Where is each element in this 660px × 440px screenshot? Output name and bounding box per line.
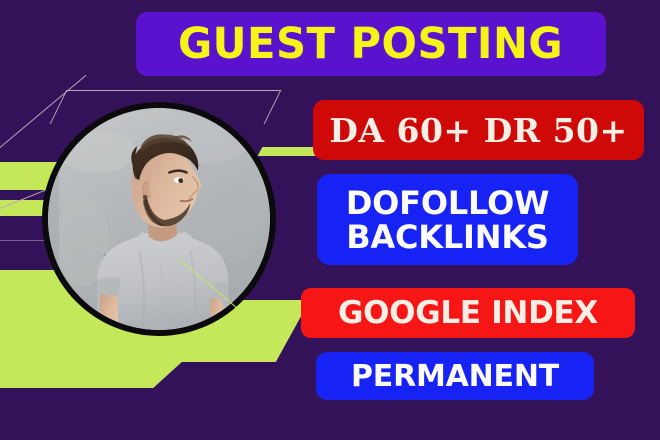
portrait-illustration <box>48 108 270 330</box>
badge-da-dr: DA 60+ DR 50+ <box>313 100 644 160</box>
portrait-photo-circle <box>42 102 276 336</box>
badge-permanent: PERMANENT <box>316 352 594 400</box>
page-title: GUEST POSTING <box>178 19 563 69</box>
badge-google-index: GOOGLE INDEX <box>301 288 635 338</box>
title-banner: GUEST POSTING <box>136 12 606 76</box>
portrait-photo-image <box>48 108 270 330</box>
poster-canvas: GUEST POSTING DA 60+ DR 50+ DOFOLLOW BAC… <box>0 0 660 440</box>
badge-google-index-label: GOOGLE INDEX <box>338 295 598 331</box>
badge-permanent-label: PERMANENT <box>351 359 559 394</box>
badge-dofollow-line2: BACKLINKS <box>346 221 549 254</box>
badge-da-dr-label: DA 60+ DR 50+ <box>329 111 627 150</box>
badge-dofollow-backlinks: DOFOLLOW BACKLINKS <box>317 174 578 265</box>
badge-dofollow-line1: DOFOLLOW <box>346 187 549 220</box>
